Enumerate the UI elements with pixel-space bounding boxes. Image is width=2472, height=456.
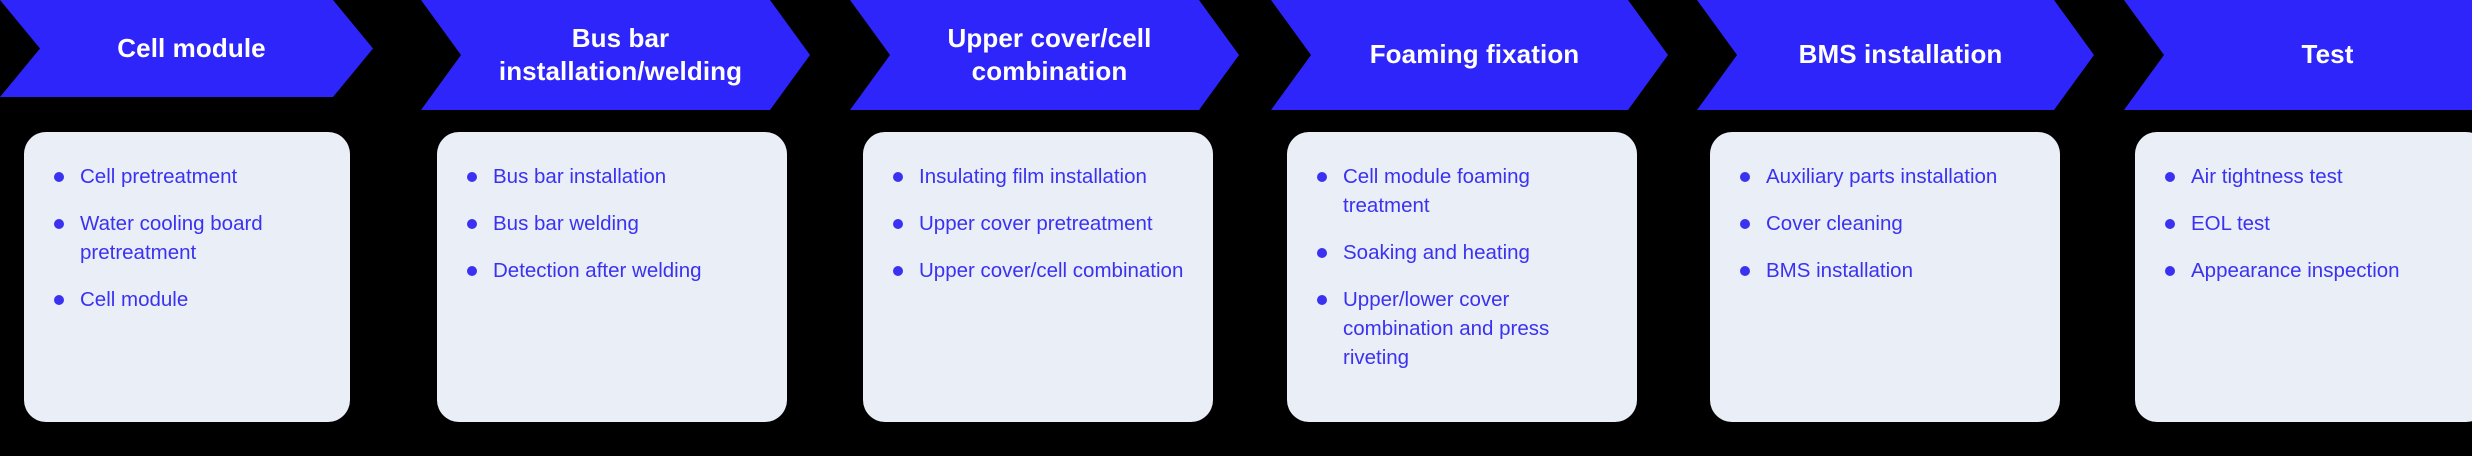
bullet-dot-icon [893, 219, 903, 229]
list-item-label: EOL test [2191, 212, 2270, 235]
bullet-dot-icon [54, 219, 64, 229]
bullet-dot-icon [1740, 172, 1750, 182]
step-title: Test [2180, 38, 2472, 71]
step-chevron-4[interactable]: Foaming fixation [1271, 0, 1668, 110]
step-chevron-3[interactable]: Upper cover/cell combination [850, 0, 1239, 110]
process-step: BMS installationAuxiliary parts installa… [1697, 0, 2124, 456]
list-item-label: Upper/lower cover combination and press … [1343, 288, 1549, 369]
list-item-label: Cell pretreatment [80, 165, 237, 188]
step-chevron-5[interactable]: BMS installation [1697, 0, 2094, 110]
list-item-label: BMS installation [1766, 259, 1913, 282]
step-detail-card-6: Air tightness testEOL testAppearance ins… [2135, 132, 2472, 422]
list-item-label: Upper cover pretreatment [919, 212, 1153, 235]
list-item-label: Upper cover/cell combination [919, 259, 1183, 282]
list-item: Cover cleaning [1736, 209, 2034, 238]
step-title: Bus bar installation/welding [477, 22, 764, 89]
bullet-dot-icon [54, 172, 64, 182]
bullet-dot-icon [1317, 172, 1327, 182]
step-chevron-2[interactable]: Bus bar installation/welding [421, 0, 810, 110]
process-step: Foaming fixationCell module foaming trea… [1271, 0, 1698, 456]
process-step: Cell moduleCell pretreatmentWater coolin… [0, 0, 403, 456]
list-item-label: Bus bar installation [493, 165, 666, 188]
list-item: Cell module [50, 285, 324, 314]
step-task-list: Cell pretreatmentWater cooling board pre… [50, 162, 324, 314]
list-item: Bus bar welding [463, 209, 761, 238]
list-item-label: Water cooling board pretreatment [80, 212, 263, 264]
step-chevron-6[interactable]: Test [2124, 0, 2472, 110]
list-item: Cell pretreatment [50, 162, 324, 191]
step-title: Foaming fixation [1327, 38, 1622, 71]
list-item-label: Detection after welding [493, 259, 702, 282]
list-item: Appearance inspection [2161, 256, 2462, 285]
list-item: Detection after welding [463, 256, 761, 285]
step-detail-card-3: Insulating film installationUpper cover … [863, 132, 1213, 422]
step-task-list: Air tightness testEOL testAppearance ins… [2161, 162, 2462, 285]
list-item-label: Soaking and heating [1343, 241, 1530, 264]
list-item: EOL test [2161, 209, 2462, 238]
bullet-dot-icon [54, 295, 64, 305]
bullet-dot-icon [2165, 172, 2175, 182]
step-title: Upper cover/cell combination [906, 22, 1193, 89]
step-title: BMS installation [1753, 38, 2048, 71]
process-flow-diagram: Cell moduleCell pretreatmentWater coolin… [0, 0, 2472, 456]
step-detail-card-5: Auxiliary parts installationCover cleani… [1710, 132, 2060, 422]
bullet-dot-icon [1740, 219, 1750, 229]
bullet-dot-icon [467, 266, 477, 276]
bullet-dot-icon [467, 219, 477, 229]
list-item: Upper/lower cover combination and press … [1313, 285, 1611, 372]
list-item: Air tightness test [2161, 162, 2462, 191]
list-item: Water cooling board pretreatment [50, 209, 324, 267]
list-item-label: Insulating film installation [919, 165, 1147, 188]
bullet-dot-icon [1740, 266, 1750, 276]
step-task-list: Cell module foaming treatmentSoaking and… [1313, 162, 1611, 372]
list-item-label: Cover cleaning [1766, 212, 1903, 235]
list-item-label: Cell module foaming treatment [1343, 165, 1530, 217]
step-detail-card-4: Cell module foaming treatmentSoaking and… [1287, 132, 1637, 422]
list-item: Upper cover pretreatment [889, 209, 1187, 238]
process-step: Bus bar installation/weldingBus bar inst… [421, 0, 840, 456]
step-title: Cell module [56, 32, 327, 65]
step-chevron-1[interactable]: Cell module [0, 0, 373, 97]
list-item-label: Cell module [80, 288, 188, 311]
bullet-dot-icon [1317, 248, 1327, 258]
list-item: Auxiliary parts installation [1736, 162, 2034, 191]
list-item: Cell module foaming treatment [1313, 162, 1611, 220]
list-item: Upper cover/cell combination [889, 256, 1187, 285]
bullet-dot-icon [467, 172, 477, 182]
list-item: Insulating film installation [889, 162, 1187, 191]
process-step: Upper cover/cell combinationInsulating f… [850, 0, 1269, 456]
list-item: Soaking and heating [1313, 238, 1611, 267]
list-item: BMS installation [1736, 256, 2034, 285]
bullet-dot-icon [893, 172, 903, 182]
step-task-list: Insulating film installationUpper cover … [889, 162, 1187, 285]
step-task-list: Bus bar installationBus bar weldingDetec… [463, 162, 761, 285]
list-item-label: Bus bar welding [493, 212, 639, 235]
list-item: Bus bar installation [463, 162, 761, 191]
bullet-dot-icon [1317, 295, 1327, 305]
list-item-label: Appearance inspection [2191, 259, 2400, 282]
bullet-dot-icon [2165, 219, 2175, 229]
bullet-dot-icon [893, 266, 903, 276]
list-item-label: Auxiliary parts installation [1766, 165, 1997, 188]
step-detail-card-2: Bus bar installationBus bar weldingDetec… [437, 132, 787, 422]
process-step: TestAir tightness testEOL testAppearance… [2124, 0, 2472, 456]
step-task-list: Auxiliary parts installationCover cleani… [1736, 162, 2034, 285]
list-item-label: Air tightness test [2191, 165, 2343, 188]
bullet-dot-icon [2165, 266, 2175, 276]
step-detail-card-1: Cell pretreatmentWater cooling board pre… [24, 132, 350, 422]
